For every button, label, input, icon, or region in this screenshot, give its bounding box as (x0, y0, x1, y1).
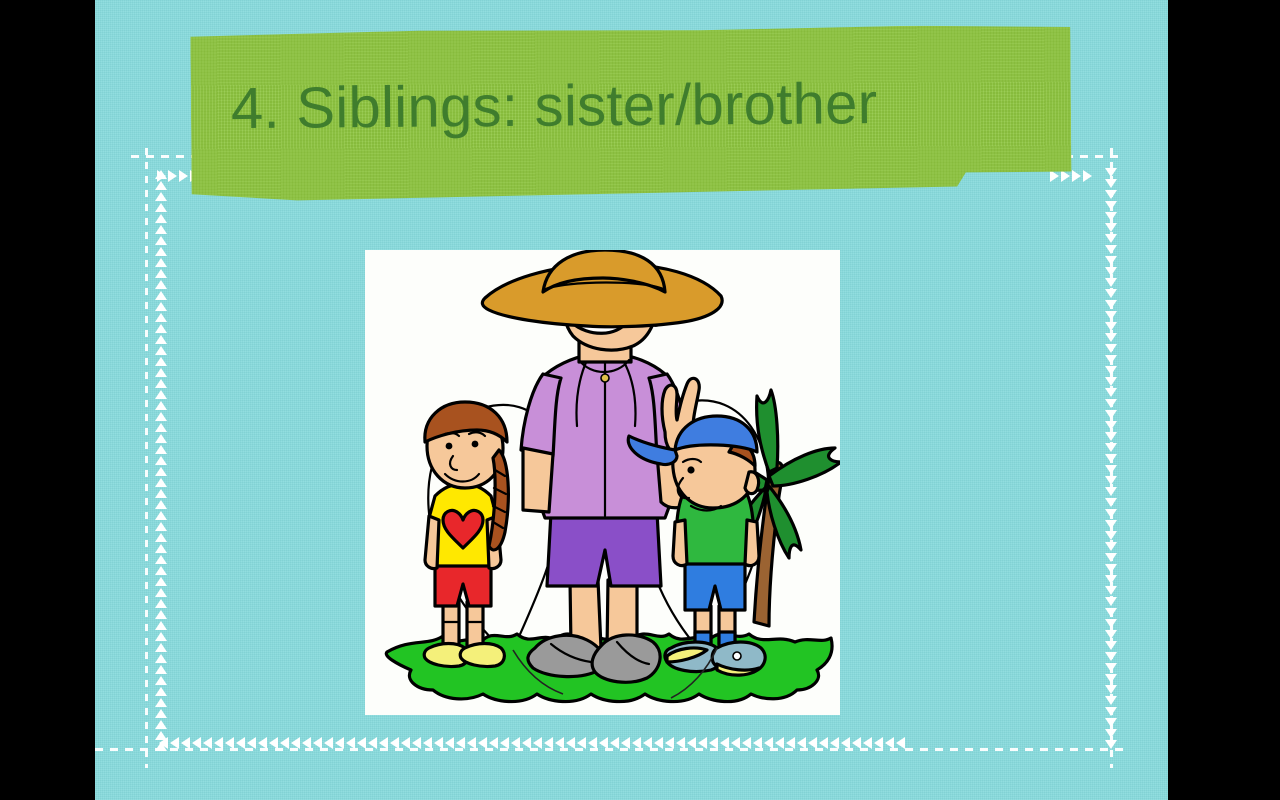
letterbox-bar-right (1168, 0, 1280, 800)
border-triangle (1105, 278, 1117, 287)
border-triangle (155, 577, 167, 586)
border-triangle (1105, 619, 1117, 628)
border-triangle (500, 737, 509, 749)
border-triangle (291, 737, 300, 749)
border-triangle (654, 737, 663, 749)
border-triangle (445, 737, 454, 749)
border-triangle (155, 599, 167, 608)
border-triangle (1105, 465, 1117, 474)
border-triangle (742, 737, 751, 749)
border-triangle (155, 412, 167, 421)
border-triangle (302, 737, 311, 749)
border-triangle (179, 170, 188, 182)
border-triangle (1105, 652, 1117, 661)
border-triangle (155, 401, 167, 410)
border-triangle (1105, 597, 1117, 606)
border-triangle (841, 737, 850, 749)
border-triangle (258, 737, 267, 749)
border-triangle (709, 737, 718, 749)
border-triangle (155, 302, 167, 311)
slide-canvas: 4. Siblings: sister/brother .ol{stroke:#… (95, 0, 1168, 800)
border-triangle (247, 737, 256, 749)
border-triangle (155, 247, 167, 256)
border-triangles-left (153, 170, 169, 758)
border-triangle (1105, 300, 1117, 309)
border-triangle (456, 737, 465, 749)
border-triangle (155, 170, 167, 179)
border-triangle (687, 737, 696, 749)
border-triangle (863, 737, 872, 749)
border-triangle (155, 214, 167, 223)
border-triangle (155, 709, 167, 718)
border-triangle (155, 489, 167, 498)
border-triangle (1105, 256, 1117, 265)
clipart-family-illustration: .ol{stroke:#000;stroke-width:3.2;stroke-… (365, 250, 840, 715)
border-triangle (170, 737, 179, 749)
border-triangle (155, 533, 167, 542)
border-triangle (1105, 575, 1117, 584)
border-triangle (192, 737, 201, 749)
border-triangle (155, 258, 167, 267)
border-triangle (1083, 170, 1092, 182)
border-triangle (1105, 223, 1117, 232)
border-triangle (155, 522, 167, 531)
border-triangle (1105, 399, 1117, 408)
border-triangle (1105, 520, 1117, 529)
border-triangle (155, 500, 167, 509)
border-triangle (1105, 630, 1117, 639)
border-triangle (1105, 498, 1117, 507)
border-triangle (155, 346, 167, 355)
border-triangle (1105, 740, 1117, 749)
border-triangle (1105, 685, 1117, 694)
border-triangle (621, 737, 630, 749)
border-triangle (335, 737, 344, 749)
border-triangle (1105, 333, 1117, 342)
border-triangle (1105, 707, 1117, 716)
border-triangle (1105, 201, 1117, 210)
border-triangle (478, 737, 487, 749)
border-triangle (1105, 454, 1117, 463)
border-triangle (155, 225, 167, 234)
border-triangle (643, 737, 652, 749)
border-triangle (1105, 212, 1117, 221)
border-triangle (544, 737, 553, 749)
border-triangles-bottom (159, 735, 1124, 751)
border-triangle (155, 269, 167, 278)
border-triangle (155, 280, 167, 289)
border-triangle (214, 737, 223, 749)
border-triangle (155, 434, 167, 443)
border-triangle (155, 368, 167, 377)
border-triangle (155, 698, 167, 707)
border-triangle (1105, 586, 1117, 595)
border-triangle (1105, 355, 1117, 364)
border-triangle (1105, 729, 1117, 738)
border-triangle (155, 687, 167, 696)
border-triangle (1105, 509, 1117, 518)
border-triangle (1105, 410, 1117, 419)
border-triangle (1105, 641, 1117, 650)
border-triangle (155, 467, 167, 476)
border-triangle (155, 313, 167, 322)
border-triangle (155, 742, 167, 751)
border-triangle (1105, 322, 1117, 331)
border-triangle (412, 737, 421, 749)
border-triangle (1105, 289, 1117, 298)
border-dashed-line-right (1110, 148, 1113, 768)
border-triangle (1105, 311, 1117, 320)
border-triangle (155, 291, 167, 300)
border-triangle (1105, 476, 1117, 485)
border-triangle (155, 324, 167, 333)
border-triangle (155, 654, 167, 663)
border-triangle (1072, 170, 1081, 182)
border-triangle (155, 610, 167, 619)
border-triangle (533, 737, 542, 749)
border-triangle (632, 737, 641, 749)
border-triangle (1105, 190, 1117, 199)
border-triangle (155, 192, 167, 201)
border-dashed-line-left (145, 148, 148, 768)
border-triangle (346, 737, 355, 749)
letterbox-bar-left (0, 0, 95, 800)
border-triangle (225, 737, 234, 749)
border-triangle (155, 445, 167, 454)
border-triangle (155, 544, 167, 553)
border-triangle (159, 737, 168, 749)
border-triangle (155, 335, 167, 344)
border-triangle (157, 170, 166, 182)
border-triangle (313, 737, 322, 749)
border-triangle (1105, 553, 1117, 562)
border-triangle (764, 737, 773, 749)
border-triangle (610, 737, 619, 749)
border-triangle (566, 737, 575, 749)
border-triangle (797, 737, 806, 749)
border-triangle (1105, 432, 1117, 441)
border-triangle (155, 456, 167, 465)
border-triangle (155, 236, 167, 245)
border-triangle (379, 737, 388, 749)
border-triangle (720, 737, 729, 749)
border-triangle (324, 737, 333, 749)
border-triangle (665, 737, 674, 749)
border-dashed-line-bottom (95, 748, 1130, 751)
border-triangle (1105, 696, 1117, 705)
border-triangle (181, 737, 190, 749)
border-triangle (236, 737, 245, 749)
border-triangle (1105, 674, 1117, 683)
border-triangle (203, 737, 212, 749)
border-triangle (1105, 531, 1117, 540)
title-banner: 4. Siblings: sister/brother (190, 25, 1071, 207)
border-triangle (155, 621, 167, 630)
border-triangle (819, 737, 828, 749)
border-triangle (555, 737, 564, 749)
border-triangle (1105, 542, 1117, 551)
border-triangle (1105, 388, 1117, 397)
border-triangle (155, 665, 167, 674)
border-triangle (155, 555, 167, 564)
border-triangle (155, 566, 167, 575)
border-triangle (1105, 487, 1117, 496)
border-triangle (155, 720, 167, 729)
border-triangle (269, 737, 278, 749)
border-triangle (577, 737, 586, 749)
border-triangle (1105, 564, 1117, 573)
slide-root: 4. Siblings: sister/brother .ol{stroke:#… (0, 0, 1280, 800)
border-triangle (155, 643, 167, 652)
border-triangle (155, 423, 167, 432)
border-triangle (155, 181, 167, 190)
border-triangle (155, 203, 167, 212)
border-triangle (155, 632, 167, 641)
border-triangle (155, 676, 167, 685)
border-triangle (155, 511, 167, 520)
border-triangle (423, 737, 432, 749)
border-triangle (1105, 718, 1117, 727)
border-triangle (786, 737, 795, 749)
border-triangle (830, 737, 839, 749)
border-triangle (1105, 608, 1117, 617)
border-triangle (753, 737, 762, 749)
border-triangle (155, 478, 167, 487)
border-triangle (390, 737, 399, 749)
border-triangle (896, 737, 905, 749)
border-triangle (698, 737, 707, 749)
border-triangle (1105, 267, 1117, 276)
border-triangle (368, 737, 377, 749)
border-triangle (885, 737, 894, 749)
border-triangle (1061, 170, 1070, 182)
border-triangle (808, 737, 817, 749)
border-triangle (434, 737, 443, 749)
border-triangle (1105, 421, 1117, 430)
border-triangle (155, 390, 167, 399)
border-triangle (155, 588, 167, 597)
border-triangle (357, 737, 366, 749)
border-triangle (1105, 179, 1117, 188)
border-triangle (599, 737, 608, 749)
border-triangle (1105, 168, 1117, 177)
border-triangle (1105, 234, 1117, 243)
border-triangle (676, 737, 685, 749)
border-triangle (155, 357, 167, 366)
border-triangle (155, 379, 167, 388)
clipart-frame: .ol{stroke:#000;stroke-width:3.2;stroke-… (365, 250, 840, 715)
border-triangle (280, 737, 289, 749)
border-triangle (1105, 366, 1117, 375)
border-triangle (852, 737, 861, 749)
border-triangle (168, 170, 177, 182)
border-triangle (155, 731, 167, 740)
border-triangle (588, 737, 597, 749)
border-triangle (511, 737, 520, 749)
border-triangle (1105, 443, 1117, 452)
border-triangle (1105, 344, 1117, 353)
border-triangle (1105, 377, 1117, 386)
border-triangle (874, 737, 883, 749)
border-triangle (1105, 245, 1117, 254)
page-title: 4. Siblings: sister/brother (231, 69, 1052, 142)
border-triangles-right (1103, 168, 1119, 758)
border-triangle (1050, 170, 1059, 182)
border-triangle (489, 737, 498, 749)
border-triangle (401, 737, 410, 749)
border-triangle (1105, 663, 1117, 672)
border-triangle (522, 737, 531, 749)
border-triangle (731, 737, 740, 749)
border-triangle (775, 737, 784, 749)
border-triangle (467, 737, 476, 749)
